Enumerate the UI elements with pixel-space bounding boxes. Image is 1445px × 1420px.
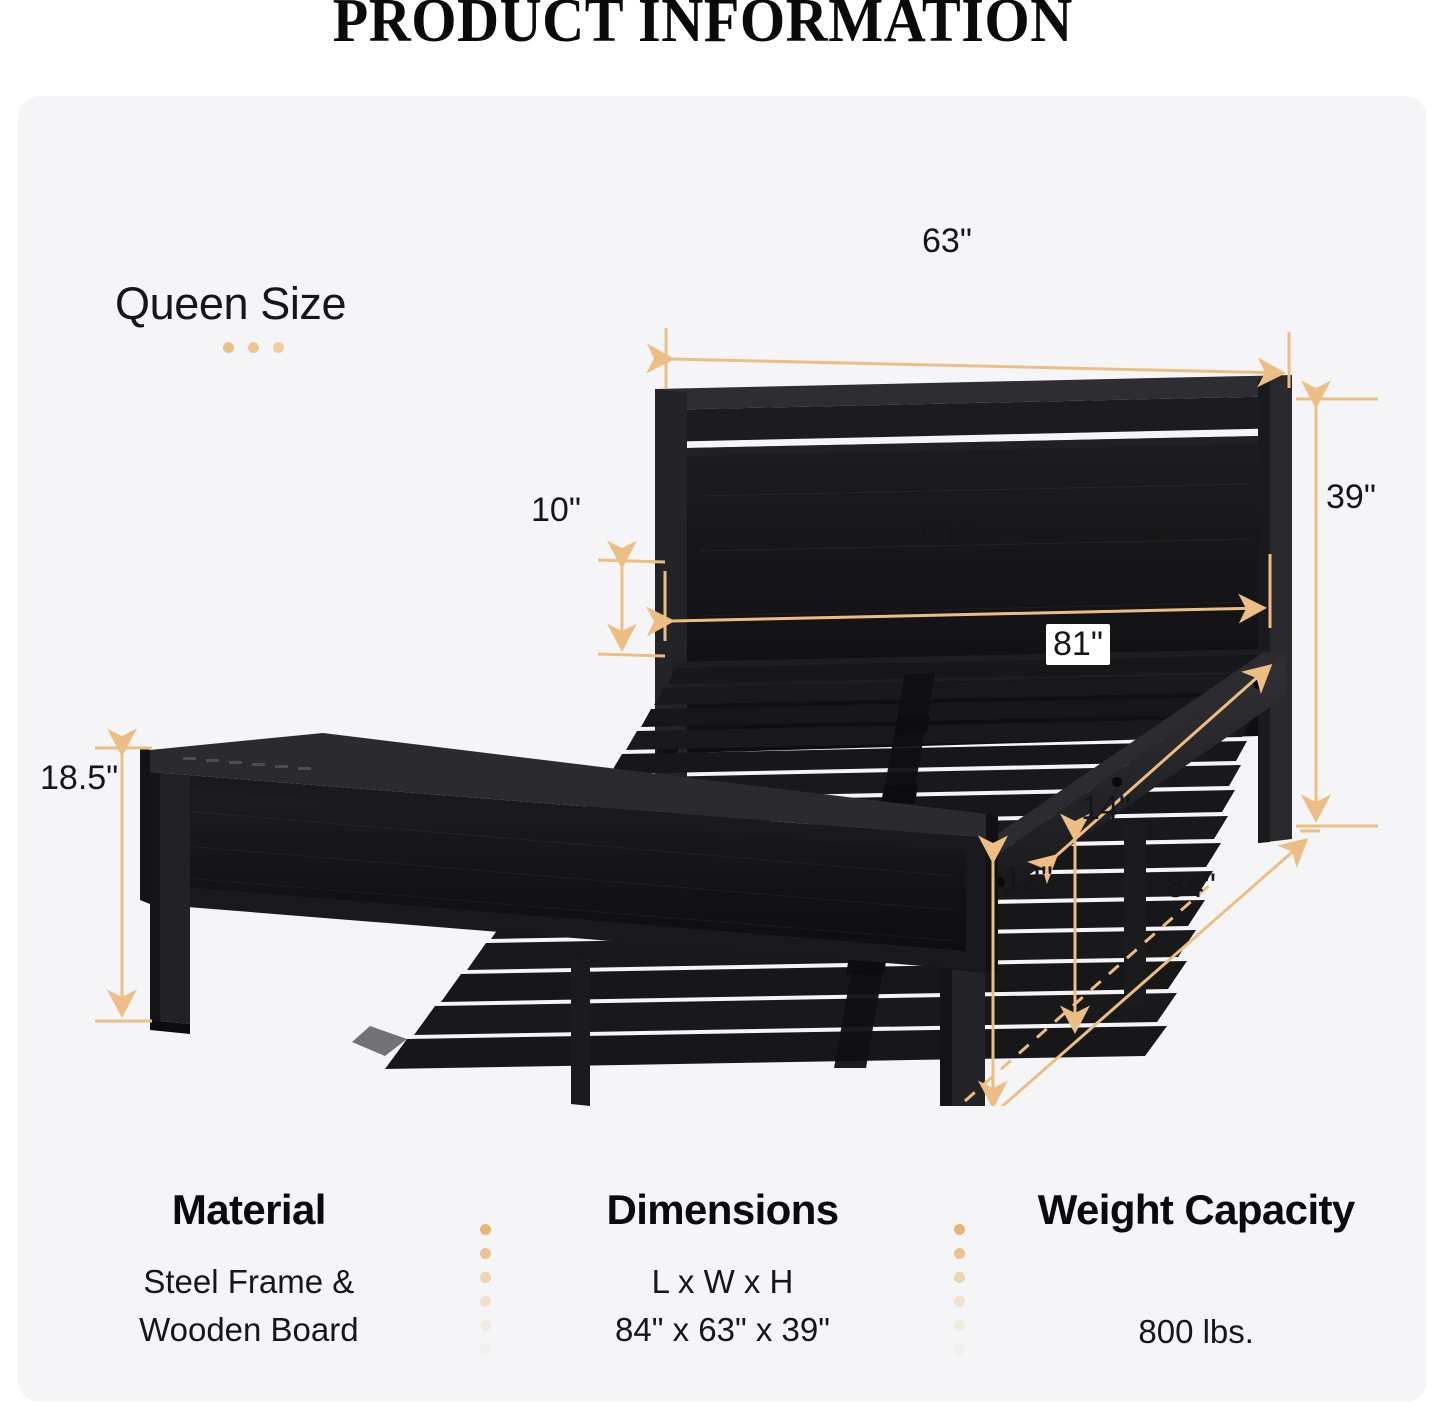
dot-3	[273, 342, 284, 353]
divider2-dot-6	[954, 1344, 965, 1355]
size-label: Queen Size	[115, 278, 346, 330]
ext-10-bottom	[598, 654, 665, 656]
bed-frame-svg	[0, 96, 1445, 1106]
spec-weight-capacity: Weight Capacity 800 lbs.	[965, 1178, 1427, 1356]
dim-label-10: 10"	[531, 491, 581, 530]
spec-material-lines: Steel Frame & Wooden Board	[18, 1258, 480, 1354]
spec-divider-2	[953, 1178, 965, 1355]
divider2-dot-2	[954, 1248, 965, 1259]
spec-dimensions-line-1: L x W x H	[492, 1258, 954, 1306]
spec-row: Material Steel Frame & Wooden Board Dime…	[18, 1178, 1427, 1378]
product-information-page: PRODUCT INFORMATION Queen Size	[0, 0, 1445, 1420]
divider-dot-1	[480, 1224, 491, 1235]
rail-screw-2	[1112, 777, 1122, 787]
dot-1	[223, 342, 234, 353]
spec-material: Material Steel Frame & Wooden Board	[18, 1178, 480, 1354]
page-title: PRODUCT INFORMATION	[0, 0, 1445, 57]
divider2-dot-1	[954, 1224, 965, 1235]
dim-label-14: 14"	[1081, 789, 1131, 828]
bed-frame-diagram: 63" 10" 61" 39" 81" 18.5" 14" 12" 84"	[0, 96, 1445, 1106]
spec-dimensions: Dimensions L x W x H 84" x 63" x 39"	[492, 1178, 954, 1354]
ext-10-top	[598, 560, 665, 562]
spec-dimensions-title: Dimensions	[492, 1188, 954, 1232]
dim-label-12: 12"	[1003, 860, 1053, 899]
divider-dot-3	[480, 1272, 491, 1283]
divider2-dot-5	[954, 1320, 965, 1331]
spec-material-line-2: Wooden Board	[18, 1306, 480, 1354]
dim-label-81: 81"	[1046, 624, 1110, 665]
page-title-text: PRODUCT INFORMATION	[332, 0, 1072, 57]
dim-label-63: 63"	[922, 222, 972, 261]
dim-label-18-5: 18.5"	[40, 759, 118, 798]
divider-dot-6	[480, 1344, 491, 1355]
divider-dot-2	[480, 1248, 491, 1259]
spec-weight-capacity-title: Weight Capacity	[965, 1188, 1427, 1232]
leg-center	[571, 956, 590, 1106]
dot-2	[248, 342, 259, 353]
divider-dot-4	[480, 1296, 491, 1307]
dim-label-84: 84"	[1166, 867, 1216, 906]
spec-weight-capacity-line-1: 800 lbs.	[965, 1308, 1427, 1356]
divider-dot-5	[480, 1320, 491, 1331]
spec-weight-capacity-lines: 800 lbs.	[965, 1308, 1427, 1356]
size-label-block: Queen Size	[115, 278, 346, 353]
spec-dimensions-line-2: 84" x 63" x 39"	[492, 1306, 954, 1354]
divider2-dot-3	[954, 1272, 965, 1283]
leg-front-right-shade	[940, 968, 952, 1106]
dim-label-39: 39"	[1326, 478, 1376, 517]
spec-material-title: Material	[18, 1188, 480, 1232]
spec-material-line-1: Steel Frame &	[18, 1258, 480, 1306]
spec-divider-1	[480, 1178, 492, 1355]
headboard-right-post-shade	[1258, 379, 1270, 843]
spec-dimensions-lines: L x W x H 84" x 63" x 39"	[492, 1258, 954, 1354]
size-label-dots	[223, 342, 346, 353]
dim-label-61: 61"	[921, 515, 971, 554]
divider2-dot-4	[954, 1296, 965, 1307]
dim-63	[672, 359, 1283, 373]
footboard-left-edge	[140, 747, 150, 904]
leg-mid-right	[1124, 820, 1146, 1006]
leg-front-left-shade	[150, 772, 160, 1021]
